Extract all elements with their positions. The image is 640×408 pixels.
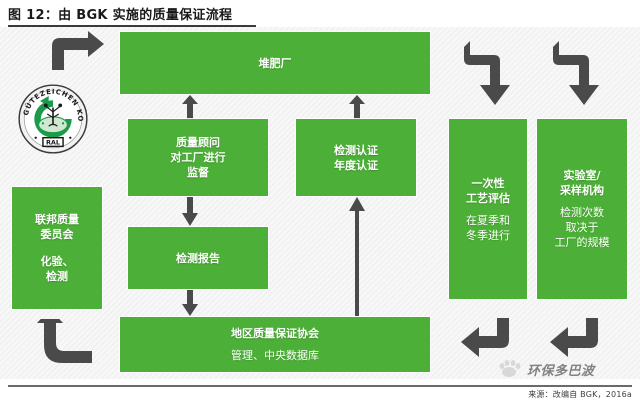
node-advisor-line-1: 质量顾问 bbox=[171, 135, 226, 150]
node-federal-subtitle: 化验、 检测 bbox=[41, 254, 74, 284]
node-federal-title: 联邦质量 委员会 bbox=[35, 212, 79, 242]
node-lab-line-1: 实验室/ bbox=[560, 168, 604, 183]
arrow-advisor-to-report-icon bbox=[182, 197, 198, 226]
node-test-report[interactable]: 检测报告 bbox=[128, 227, 268, 289]
node-federal-line-1: 联邦质量 bbox=[35, 212, 79, 227]
paw-print-icon bbox=[498, 360, 522, 378]
node-federal-line-2: 委员会 bbox=[35, 227, 79, 242]
arrow-seal-to-plant-icon bbox=[46, 28, 108, 74]
node-association-title: 地区质量保证协会 bbox=[231, 326, 319, 341]
node-onetime-sub-line-2: 冬季进行 bbox=[466, 228, 510, 243]
arrow-onetime-to-association-icon bbox=[459, 316, 517, 360]
watermark-text: 环保多巴波 bbox=[527, 360, 595, 379]
node-plant-title: 堆肥厂 bbox=[259, 56, 292, 71]
watermark: 环保多巴波 bbox=[498, 356, 638, 382]
figure-source: 来源：改编自 BGK，2016a bbox=[528, 389, 632, 400]
seal-svg: GÜTEZEICHEN KOMPOST RAL bbox=[17, 83, 89, 155]
node-federal-quality-committee[interactable]: 联邦质量 委员会 化验、 检测 bbox=[12, 187, 102, 309]
node-report-title: 检测报告 bbox=[176, 251, 220, 266]
node-certification-title: 检测认证 年度认证 bbox=[334, 143, 378, 173]
arrow-report-to-association-icon bbox=[182, 290, 198, 316]
arrow-plant-to-onetime-icon bbox=[462, 37, 512, 109]
node-advisor-title: 质量顾问 对工厂进行 监督 bbox=[171, 135, 226, 180]
node-onetime-process-assessment[interactable]: 一次性 工艺评估 在夏季和 冬季进行 bbox=[449, 119, 527, 299]
figure-title-bar: 图 12：由 BGK 实施的质量保证流程 bbox=[8, 4, 632, 26]
footer-divider bbox=[8, 385, 632, 387]
node-onetime-line-2: 工艺评估 bbox=[466, 191, 510, 206]
arrow-plant-to-lab-icon bbox=[551, 37, 601, 109]
node-advisor-line-3: 监督 bbox=[171, 165, 226, 180]
figure-container: 图 12：由 BGK 实施的质量保证流程 bbox=[0, 0, 640, 408]
arrow-association-to-certification-icon bbox=[349, 197, 365, 316]
arrow-certification-to-plant-icon bbox=[349, 95, 365, 119]
node-lab-sub-line-3: 工厂的规模 bbox=[555, 235, 610, 250]
node-onetime-line-1: 一次性 bbox=[466, 176, 510, 191]
guetezeichen-kompost-seal-icon: GÜTEZEICHEN KOMPOST RAL bbox=[17, 83, 89, 155]
node-regional-quality-association[interactable]: 地区质量保证协会 管理、中央数据库 bbox=[120, 317, 430, 372]
node-advisor-line-2: 对工厂进行 bbox=[171, 150, 226, 165]
node-federal-sub-line-2: 检测 bbox=[41, 269, 74, 284]
node-onetime-title: 一次性 工艺评估 bbox=[466, 176, 510, 206]
node-lab-title: 实验室/ 采样机构 bbox=[560, 168, 604, 198]
diagram-canvas: GÜTEZEICHEN KOMPOST RAL bbox=[0, 27, 640, 379]
page-title: 图 12：由 BGK 实施的质量保证流程 bbox=[8, 4, 632, 23]
node-association-subtitle: 管理、中央数据库 bbox=[231, 348, 319, 363]
node-quality-advisor[interactable]: 质量顾问 对工厂进行 监督 bbox=[128, 119, 268, 196]
node-certification-line-2: 年度认证 bbox=[334, 158, 378, 173]
node-certification-line-1: 检测认证 bbox=[334, 143, 378, 158]
node-lab-subtitle: 检测次数 取决于 工厂的规模 bbox=[555, 205, 610, 250]
node-lab-sub-line-2: 取决于 bbox=[555, 220, 610, 235]
node-onetime-sub-line-1: 在夏季和 bbox=[466, 213, 510, 228]
node-federal-sub-line-1: 化验、 bbox=[41, 254, 74, 269]
node-certification[interactable]: 检测认证 年度认证 bbox=[296, 119, 416, 196]
node-composting-plant[interactable]: 堆肥厂 bbox=[120, 32, 430, 94]
node-onetime-subtitle: 在夏季和 冬季进行 bbox=[466, 213, 510, 243]
seal-ral-badge-text: RAL bbox=[46, 139, 60, 147]
arrow-lab-to-association-icon bbox=[548, 316, 606, 360]
node-laboratory-sampling[interactable]: 实验室/ 采样机构 检测次数 取决于 工厂的规模 bbox=[537, 119, 627, 299]
node-lab-sub-line-1: 检测次数 bbox=[555, 205, 610, 220]
arrow-advisor-to-plant-icon bbox=[182, 95, 198, 119]
arrow-association-to-federal-icon bbox=[36, 319, 98, 365]
node-lab-line-2: 采样机构 bbox=[560, 183, 604, 198]
